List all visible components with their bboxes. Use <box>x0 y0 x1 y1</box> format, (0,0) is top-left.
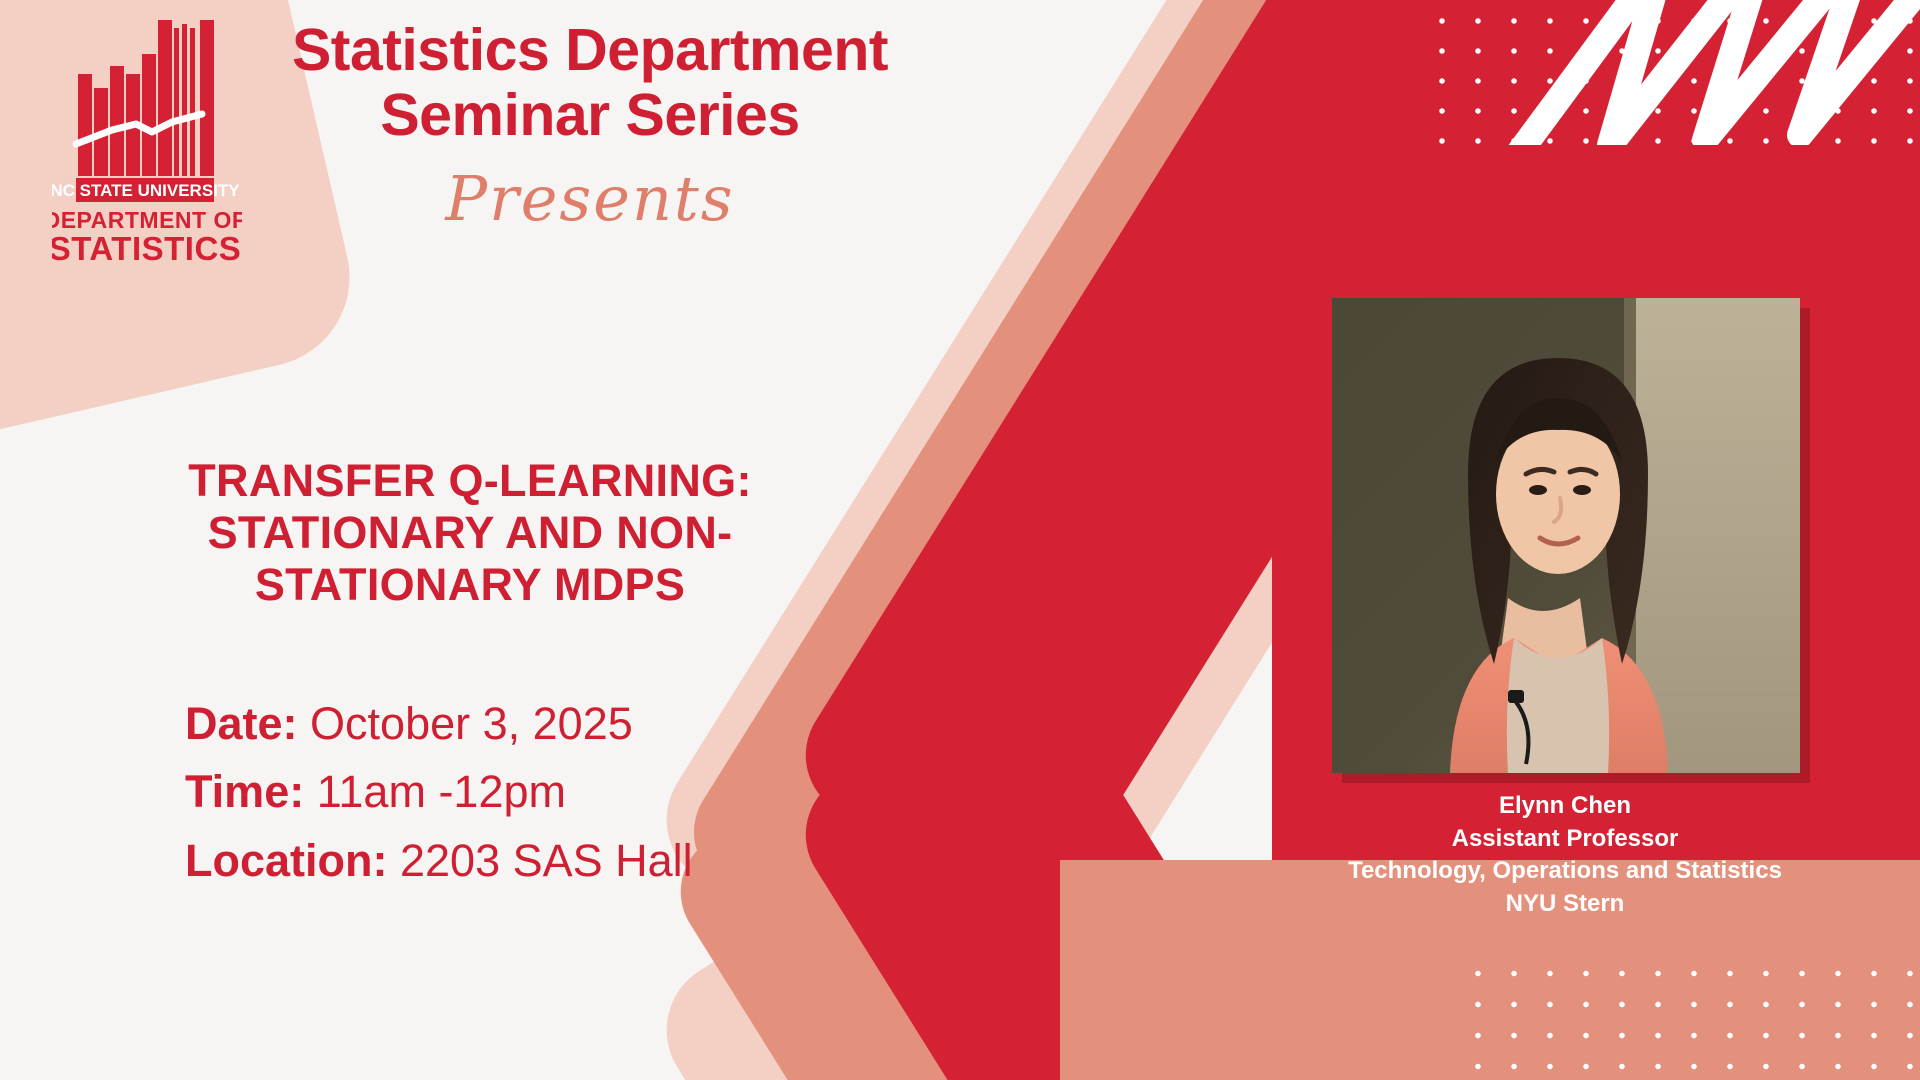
speaker-role: Assistant Professor <box>1180 823 1920 856</box>
detail-row-date: Date: October 3, 2025 <box>185 690 905 758</box>
detail-row-location: Location: 2203 SAS Hall <box>185 827 905 895</box>
detail-row-time: Time: 11am -12pm <box>185 758 905 826</box>
dot-grid-icon <box>1450 950 1920 1080</box>
detail-value-date: October 3, 2025 <box>310 698 633 749</box>
speaker-name: Elynn Chen <box>1180 790 1920 823</box>
speaker-photo <box>1332 298 1800 773</box>
seminar-title: TRANSFER Q-LEARNING: STATIONARY AND NON-… <box>120 455 820 612</box>
speaker-portrait-icon <box>1332 298 1800 773</box>
detail-label-location: Location: <box>185 835 387 886</box>
seminar-title-line-1: TRANSFER Q-LEARNING: <box>120 455 820 507</box>
detail-label-date: Date: <box>185 698 298 749</box>
nc-state-statistics-logo: NC STATE UNIVERSITY DEPARTMENT OF STATIS… <box>52 18 242 348</box>
bottom-right-decor-dots <box>1450 950 1920 1080</box>
page-title: Statistics Department Seminar Series <box>240 18 940 149</box>
detail-label-time: Time: <box>185 766 304 817</box>
scribble-icon <box>1490 0 1920 145</box>
headline-line-2: Seminar Series <box>240 83 940 148</box>
seminar-title-line-3: STATIONARY MDPS <box>120 559 820 611</box>
logo-department-line2: STATISTICS <box>52 230 241 267</box>
seminar-title-line-2: STATIONARY AND NON- <box>120 507 820 559</box>
presents-script-text: Presents <box>240 162 940 235</box>
speaker-institution: NYU Stern <box>1180 888 1920 921</box>
detail-value-location: 2203 SAS Hall <box>400 835 693 886</box>
headline-line-1: Statistics Department <box>240 18 940 83</box>
top-right-decor-banner <box>1420 0 1920 145</box>
speaker-department: Technology, Operations and Statistics <box>1180 855 1920 888</box>
logo-icon: NC STATE UNIVERSITY DEPARTMENT OF STATIS… <box>52 18 242 348</box>
logo-university-text: NC STATE UNIVERSITY <box>52 181 240 200</box>
event-details: Date: October 3, 2025 Time: 11am -12pm L… <box>185 690 905 895</box>
speaker-credit: Elynn Chen Assistant Professor Technolog… <box>1180 790 1920 921</box>
poster-canvas: NC STATE UNIVERSITY DEPARTMENT OF STATIS… <box>0 0 1920 1080</box>
detail-value-time: 11am -12pm <box>317 766 566 817</box>
